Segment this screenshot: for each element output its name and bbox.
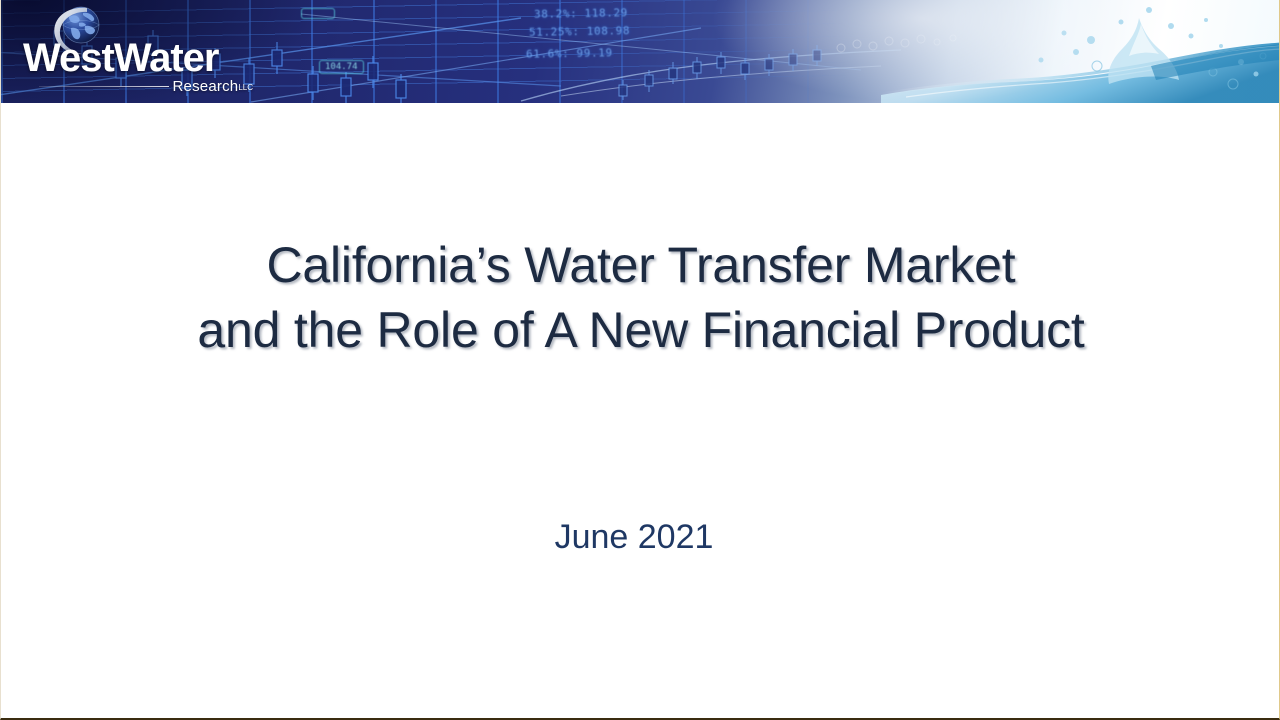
subtitle-date: June 2021 [555,518,714,557]
chart-label-3: 61.6%: 99.19 [526,46,613,61]
logo-wordmark: WestWater [23,38,253,78]
chart-label-1: 38.2%: 118.29 [534,6,628,21]
title-line-2: and the Role of A New Financial Product [1,298,1280,363]
logo-word-west: West [23,36,114,80]
slide-title: California’s Water Transfer Market and t… [1,233,1280,363]
logo-subline: ResearchLLC [39,78,253,95]
slide-body: California’s Water Transfer Market and t… [1,103,1280,718]
presentation-slide: 38.2%: 118.29 51.25%: 108.98 61.6%: 99.1… [0,0,1280,720]
logo-research-label: ResearchLLC [173,78,253,95]
logo-research-text: Research [173,78,239,95]
header-banner: 38.2%: 118.29 51.25%: 108.98 61.6%: 99.1… [1,0,1280,103]
chart-tag-2: 104.74 [319,60,364,74]
logo-llc-text: LLC [238,83,253,92]
chart-label-2: 51.25%: 108.98 [529,24,630,39]
chart-tag-1 [301,8,335,19]
title-line-1: California’s Water Transfer Market [1,233,1280,298]
logo-divider-rule [39,86,169,87]
westwater-logo[interactable]: WestWater ResearchLLC [23,2,253,98]
logo-word-water: Water [114,36,219,80]
slide-subtitle: June 2021 [1,518,1280,557]
